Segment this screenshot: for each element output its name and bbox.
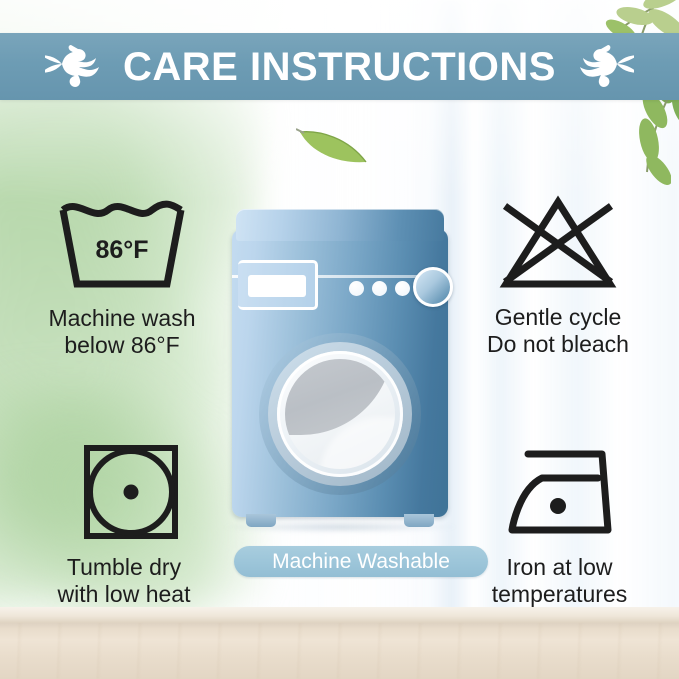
machine-foot-left (246, 514, 276, 527)
control-dot-1 (349, 281, 364, 296)
wash-basin-icon: 86°F (12, 196, 232, 296)
care-caption-line2: below 86°F (12, 332, 232, 359)
table-wood-grain (0, 623, 679, 679)
machine-door-glass (285, 359, 395, 469)
fleur-de-lis-right-icon (574, 44, 634, 90)
care-item-gentle-cycle-no-bleach: Gentle cycle Do not bleach (448, 190, 668, 358)
care-caption-line2: Do not bleach (448, 331, 668, 358)
machine-door-inner-ring (277, 351, 403, 477)
machine-washable-label: Machine Washable (272, 551, 450, 572)
machine-foot-right (404, 514, 434, 527)
detergent-drawer-slot (248, 275, 306, 297)
header-banner: CARE INSTRUCTIONS (0, 33, 679, 100)
control-knob (413, 267, 453, 307)
triangle-crossed-out-icon (448, 190, 668, 295)
page-title: CARE INSTRUCTIONS (123, 47, 556, 87)
iron-one-dot-icon (452, 440, 667, 545)
care-caption-line1: Machine wash (12, 305, 232, 332)
machine-door-outer-ring (259, 333, 421, 495)
care-item-machine-wash: 86°F Machine wash below 86°F (12, 196, 232, 359)
machine-washable-badge: Machine Washable (234, 546, 488, 577)
machine-door-mid-ring (268, 342, 412, 486)
care-item-tumble-dry: Tumble dry with low heat (18, 440, 230, 608)
machine-top-lid (236, 209, 444, 241)
care-instructions-graphic: CARE INSTRUCTIONS 86°F Machine wash be (0, 0, 679, 679)
care-caption-line1: Gentle cycle (448, 304, 668, 331)
detergent-drawer (238, 260, 318, 310)
fleur-de-lis-left-icon (45, 44, 105, 90)
care-caption-line1: Tumble dry (18, 554, 230, 581)
washing-machine-illustration (232, 209, 448, 527)
wash-temperature-value: 86°F (95, 236, 148, 264)
care-item-iron-low: Iron at low temperatures (452, 440, 667, 608)
control-dot-2 (372, 281, 387, 296)
care-caption-line2: with low heat (18, 581, 230, 608)
tumble-dry-square-circle-one-dot-icon (18, 440, 230, 545)
care-caption-line2: temperatures (452, 581, 667, 608)
background-top-glow (0, 0, 679, 200)
machine-body (232, 229, 448, 517)
floating-leaf-icon (296, 122, 372, 166)
control-dot-3 (395, 281, 410, 296)
table-edge (0, 607, 679, 623)
